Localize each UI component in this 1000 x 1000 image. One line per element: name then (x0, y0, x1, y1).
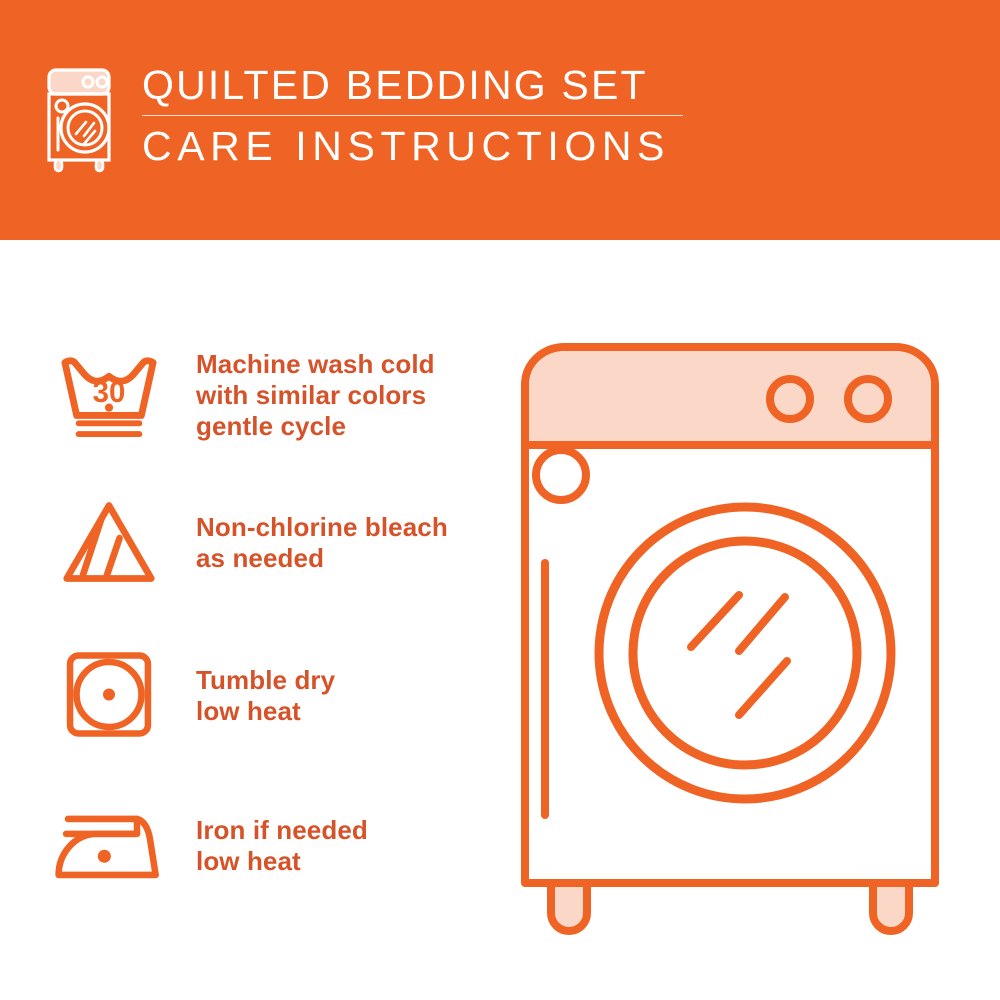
care-item-iron: Iron if needed low heat (48, 791, 478, 943)
care-item-bleach: Non-chlorine bleach as needed (48, 487, 478, 639)
header-title-block: QUILTED BEDDING SET CARE INSTRUCTIONS (142, 62, 683, 170)
care-instructions-page: QUILTED BEDDING SET CARE INSTRUCTIONS 30 (0, 0, 1000, 1000)
page-subtitle: CARE INSTRUCTIONS (142, 122, 683, 170)
care-item-tumble-dry: Tumble dry low heat (48, 639, 478, 791)
tumble-dry-icon (48, 639, 170, 749)
page-content: 30 Machine wash cold with similar colors… (0, 240, 1000, 1000)
page-title: QUILTED BEDDING SET (142, 62, 683, 108)
care-item-label: Non-chlorine bleach as needed (196, 512, 448, 574)
wash-tub-30-icon: 30 (48, 335, 170, 445)
leg-right (873, 883, 909, 931)
leg-left (551, 883, 587, 931)
care-item-label: Iron if needed low heat (196, 815, 368, 877)
bleach-triangle-icon (48, 487, 170, 597)
washing-machine-logo-icon (44, 66, 116, 176)
control-panel (529, 351, 931, 445)
care-item-label: Tumble dry low heat (196, 665, 335, 727)
iron-icon (48, 791, 170, 901)
page-header: QUILTED BEDDING SET CARE INSTRUCTIONS (0, 0, 1000, 240)
care-item-label: Machine wash cold with similar colors ge… (196, 349, 435, 442)
title-divider (142, 115, 683, 116)
washing-machine-illustration (495, 335, 965, 935)
care-item-machine-wash: 30 Machine wash cold with similar colors… (48, 335, 478, 487)
header-content: QUILTED BEDDING SET CARE INSTRUCTIONS (44, 62, 683, 176)
care-instruction-list: 30 Machine wash cold with similar colors… (48, 335, 478, 943)
